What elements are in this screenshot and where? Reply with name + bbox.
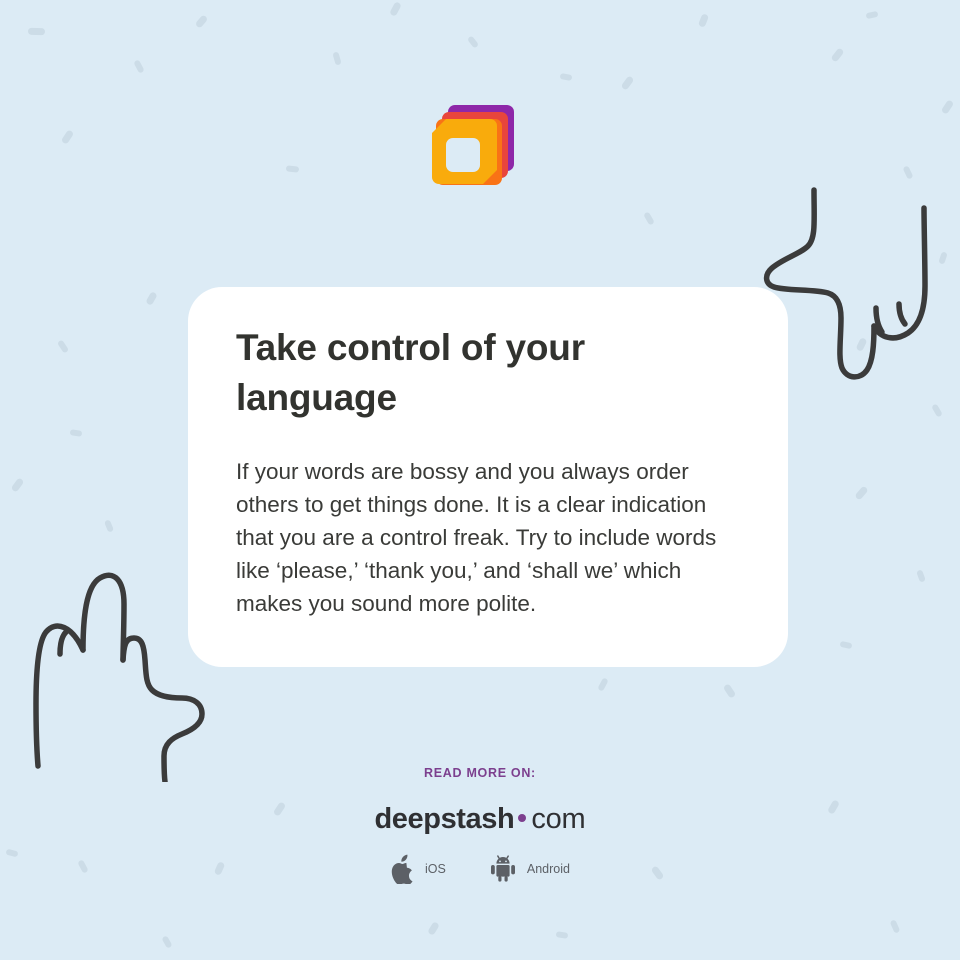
deepstash-logo xyxy=(430,103,516,197)
confetti-dash xyxy=(286,165,300,172)
confetti-dash xyxy=(840,641,853,649)
confetti-dash xyxy=(70,429,83,437)
brand-wordmark[interactable]: deepstashcom xyxy=(0,804,960,834)
confetti-dash xyxy=(161,935,172,948)
confetti-dash xyxy=(560,73,573,81)
card-title: Take control of your language xyxy=(236,323,740,423)
card-body-text: If your words are bossy and you always o… xyxy=(236,455,740,620)
confetti-dash xyxy=(389,1,402,17)
quote-card: Take control of your language If your wo… xyxy=(188,287,788,667)
confetti-dash xyxy=(104,519,114,532)
confetti-dash xyxy=(856,337,868,352)
confetti-dash xyxy=(195,14,209,28)
confetti-dash xyxy=(28,28,45,36)
ios-label: iOS xyxy=(425,862,446,876)
confetti-dash xyxy=(830,47,844,62)
quote-card-page: Take control of your language If your wo… xyxy=(0,0,960,960)
confetti-dash xyxy=(427,921,440,936)
brand-tld: com xyxy=(531,803,585,835)
confetti-dash xyxy=(698,13,709,28)
confetti-dash xyxy=(931,403,943,417)
confetti-dash xyxy=(133,59,144,73)
store-badges: iOS xyxy=(0,854,960,884)
apple-icon xyxy=(390,854,416,884)
brand-dot-icon xyxy=(518,814,526,822)
confetti-dash xyxy=(11,477,25,492)
confetti-dash xyxy=(890,919,901,933)
confetti-dash xyxy=(621,75,635,90)
confetti-dash xyxy=(643,211,655,225)
confetti-dash xyxy=(467,35,479,48)
confetti-dash xyxy=(597,677,608,691)
android-store-badge[interactable]: Android xyxy=(488,854,570,884)
confetti-dash xyxy=(556,931,569,939)
logo-layer-amber xyxy=(432,119,497,184)
android-icon xyxy=(488,854,518,884)
confetti-dash xyxy=(902,165,913,179)
confetti-dash xyxy=(57,339,69,353)
hand-pointing-down-right-illustration xyxy=(762,176,960,394)
hand-pointing-up-left-illustration xyxy=(24,564,214,782)
confetti-dash xyxy=(938,251,947,264)
confetti-dash xyxy=(941,99,955,115)
confetti-dash xyxy=(332,51,341,65)
confetti-dash xyxy=(866,11,879,19)
footer: READ MORE ON: deepstashcom iOS xyxy=(0,766,960,884)
confetti-dash xyxy=(723,683,737,699)
confetti-dash xyxy=(854,485,868,500)
confetti-dash xyxy=(145,291,158,306)
ios-store-badge[interactable]: iOS xyxy=(390,854,446,884)
android-label: Android xyxy=(527,862,570,876)
read-more-label: READ MORE ON: xyxy=(0,766,960,780)
confetti-dash xyxy=(916,569,926,582)
brand-name: deepstash xyxy=(374,803,514,835)
confetti-dash xyxy=(61,129,75,145)
